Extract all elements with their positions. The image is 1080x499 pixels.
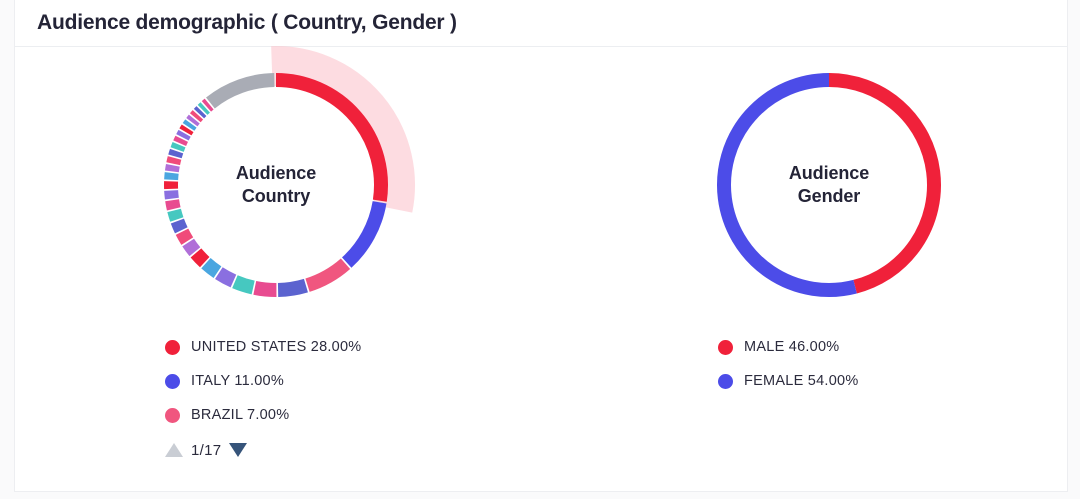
list-item[interactable]: BRAZIL 7.00% xyxy=(165,398,361,432)
donut-slice[interactable] xyxy=(235,282,253,288)
gender-donut-ring xyxy=(724,80,934,290)
donut-slice[interactable] xyxy=(180,139,182,143)
gender-donut-svg xyxy=(681,37,977,333)
legend-item-label: MALE 46.00% xyxy=(744,339,839,355)
triangle-up-icon[interactable] xyxy=(165,443,183,457)
country-donut-svg xyxy=(128,37,424,333)
audience-country-donut[interactable]: Audience Country xyxy=(164,73,388,297)
legend-item-label: FEMALE 54.00% xyxy=(744,373,858,389)
list-item[interactable]: ITALY 11.00% xyxy=(165,364,361,398)
donut-slice[interactable] xyxy=(189,123,191,126)
donut-slice[interactable] xyxy=(199,111,201,114)
list-item[interactable]: UNITED STATES 28.00% xyxy=(165,330,361,364)
legend-color-dot-icon xyxy=(165,340,180,355)
donut-slice[interactable] xyxy=(171,173,172,180)
donut-slice[interactable] xyxy=(195,115,198,118)
legend-item-label: ITALY 11.00% xyxy=(191,373,284,389)
donut-slice[interactable] xyxy=(829,80,934,287)
list-item[interactable]: MALE 46.00% xyxy=(718,330,858,364)
triangle-down-icon[interactable] xyxy=(229,443,247,457)
donut-slice[interactable] xyxy=(724,80,855,290)
donut-slice[interactable] xyxy=(171,191,172,199)
donut-slice[interactable] xyxy=(347,202,380,262)
donut-slice[interactable] xyxy=(203,107,206,109)
donut-slice[interactable] xyxy=(278,286,306,290)
donut-slice[interactable] xyxy=(308,264,346,285)
country-donut-ring xyxy=(171,80,381,290)
donut-slice[interactable] xyxy=(177,145,179,150)
donut-slice[interactable] xyxy=(188,243,195,252)
legend-color-dot-icon xyxy=(718,374,733,389)
audience-gender-donut[interactable]: Audience Gender xyxy=(717,73,941,297)
donut-slice[interactable] xyxy=(173,158,174,164)
legend-pagination: 1/17 xyxy=(165,433,361,467)
list-item[interactable]: FEMALE 54.00% xyxy=(718,364,858,398)
donut-slice[interactable] xyxy=(255,288,277,290)
donut-slice[interactable] xyxy=(172,200,174,209)
donut-slice[interactable] xyxy=(182,133,184,137)
audience-gender-panel: Audience Gender MALE 46.00% FEMALE 54.00… xyxy=(542,47,1069,492)
donut-slice[interactable] xyxy=(206,104,209,106)
legend-item-label: UNITED STATES 28.00% xyxy=(191,339,361,355)
donut-slice[interactable] xyxy=(210,80,274,103)
donut-slice[interactable] xyxy=(185,128,187,132)
donut-slice[interactable] xyxy=(182,232,187,241)
donut-slice[interactable] xyxy=(177,221,181,230)
legend-color-dot-icon xyxy=(165,374,180,389)
legend-color-dot-icon xyxy=(165,408,180,423)
donut-slice[interactable] xyxy=(192,119,194,122)
donut-slice[interactable] xyxy=(206,263,218,272)
gender-legend: MALE 46.00% FEMALE 54.00% xyxy=(718,330,858,398)
legend-color-dot-icon xyxy=(718,340,733,355)
page-title: Audience demographic ( Country, Gender ) xyxy=(37,11,457,35)
country-legend: UNITED STATES 28.00% ITALY 11.00% BRAZIL… xyxy=(165,330,361,467)
donut-slice[interactable] xyxy=(174,210,177,219)
pagination-counter: 1/17 xyxy=(191,442,221,459)
donut-slice[interactable] xyxy=(196,253,205,262)
donut-slice[interactable] xyxy=(219,273,234,281)
legend-item-label: BRAZIL 7.00% xyxy=(191,407,289,423)
audience-country-panel: Audience Country UNITED STATES 28.00% IT… xyxy=(15,47,542,492)
donut-slice[interactable] xyxy=(175,151,177,156)
donut-slice[interactable] xyxy=(172,165,173,171)
audience-demographic-card: Audience demographic ( Country, Gender )… xyxy=(14,0,1068,492)
